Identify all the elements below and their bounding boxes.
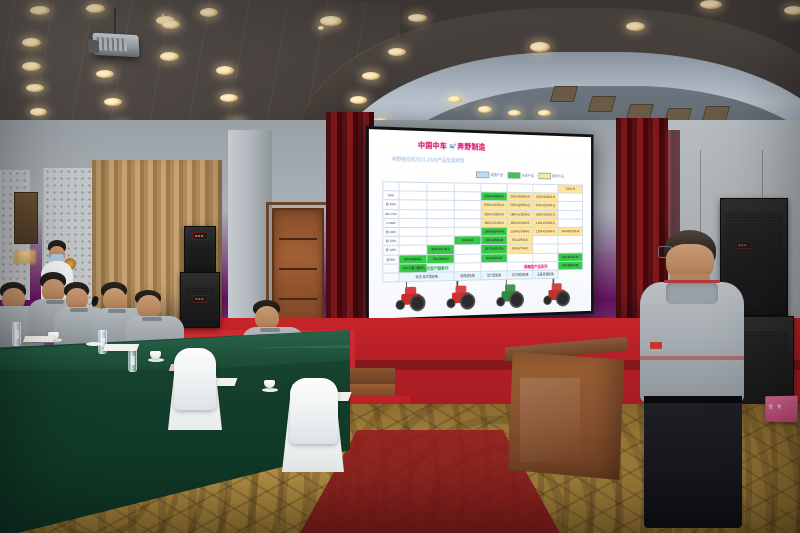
standing-presenter	[640, 230, 750, 530]
tractor-image-row	[384, 271, 580, 313]
podium-body	[508, 352, 624, 480]
banquet-chair[interactable]	[174, 348, 216, 410]
roadmap-cell: 704-2/804-2	[427, 254, 454, 263]
door-panel-line	[279, 238, 317, 240]
roadmap-cell	[427, 182, 454, 191]
ceiling-downlight	[162, 20, 180, 29]
roadmap-cell	[399, 191, 427, 200]
ceiling-downlight	[220, 94, 238, 102]
roadmap-cell	[558, 210, 583, 219]
roadmap-cell	[454, 254, 481, 263]
slide-logo-part2: 奔野制造	[457, 142, 485, 152]
roadmap-row-label: 的 100h	[383, 246, 399, 255]
roadmap-cell	[454, 210, 481, 219]
ceiling-downlight	[30, 6, 50, 15]
roadmap-cell: 1804-G/1604-G	[481, 210, 507, 219]
polo-collar	[46, 300, 64, 304]
roadmap-cell: 2304-N/2604-N	[507, 192, 533, 201]
roadmap-cell	[454, 218, 481, 227]
ceiling-downlight	[448, 96, 462, 103]
roadmap-cell: 804-904	[454, 236, 481, 245]
tractor-rear-wheel	[409, 294, 425, 311]
ceiling-downlight	[362, 72, 380, 80]
roadmap-cell: 404-B/504-B	[481, 253, 507, 262]
slide-logo: 中国中车 ≡∕ 奔野制造	[418, 140, 485, 153]
roadmap-cell: 1204-E/1404-E	[533, 219, 558, 228]
roadmap-cell	[399, 209, 427, 218]
roadmap-cell	[427, 227, 454, 236]
ceiling-downlight	[320, 16, 342, 26]
roadmap-cell: 2004-m/2204-m	[481, 201, 507, 210]
ceiling-downlight	[408, 14, 427, 22]
ceiling-downlight	[96, 70, 114, 78]
speaker-cabinet-left-top	[184, 226, 216, 274]
shirt-logo-badge	[650, 342, 662, 349]
tractor-front-wheel	[395, 300, 404, 310]
roadmap-cell: 804-E/804-E	[399, 254, 427, 263]
collar-trim-stripe	[664, 280, 720, 283]
ceiling-downlight	[530, 42, 550, 52]
ceiling-downlight	[478, 106, 492, 113]
wall-sconce-light	[14, 250, 36, 264]
roadmap-cell: 1204-E/1404-E	[533, 227, 558, 236]
ceiling-downlight	[162, 14, 164, 16]
roadmap-cell: 1004-B/904-B	[481, 236, 507, 245]
ceiling-downlight	[626, 22, 645, 31]
roadmap-cell	[454, 201, 481, 210]
roadmap-cell	[399, 236, 427, 245]
roadmap-cell: 604-E/704-E	[507, 244, 533, 253]
roadmap-cell: 28-704/28-804	[481, 245, 507, 254]
roadmap-cell	[533, 236, 558, 245]
roadmap-cell: 904-M/1004-M	[558, 227, 583, 236]
presenter-trousers	[644, 396, 742, 528]
ceiling-downlight	[104, 98, 122, 106]
roadmap-cell	[427, 209, 454, 218]
ceiling-vent	[702, 106, 730, 121]
roadmap-cell	[533, 184, 558, 193]
banquet-chair[interactable]	[290, 378, 338, 444]
projector-lens	[88, 39, 99, 53]
legend-item-mature: 成熟产品	[476, 171, 503, 178]
roadmap-row-label: 的 80h	[383, 255, 399, 264]
ceiling-downlight	[508, 110, 521, 116]
legend-chip-developing	[507, 172, 520, 179]
roadmap-cell	[427, 218, 454, 227]
roadmap-cell: 2004-Q/2204-Q	[533, 201, 558, 210]
document-paper[interactable]	[23, 336, 55, 342]
roadmap-cell	[399, 218, 427, 227]
roadmap-cell	[427, 236, 454, 245]
roadmap-cell: 1004 M	[558, 185, 583, 194]
roadmap-cell	[399, 245, 427, 254]
ceiling-downlight	[784, 6, 800, 15]
tractor-front-wheel	[447, 298, 456, 308]
speaker-grille	[189, 241, 211, 267]
roadmap-cell	[454, 183, 481, 192]
roadmap-cell	[558, 193, 583, 202]
speaker-grille	[185, 287, 215, 321]
sleeve-trim-stripe	[640, 356, 744, 360]
speaker-cabinet-left-bottom	[180, 272, 220, 328]
roadmap-cell	[399, 227, 427, 236]
ceiling-downlight	[318, 26, 324, 30]
roadmap-cell	[558, 219, 583, 228]
ceiling-downlight	[30, 108, 47, 116]
document-paper[interactable]	[103, 344, 140, 351]
roadmap-cell	[427, 191, 454, 200]
roadmap-cell: 1304-B/1004-B	[481, 227, 507, 236]
ceiling-vent	[626, 104, 654, 119]
legend-label-mature: 成熟产品	[491, 173, 504, 177]
door-panel-line	[279, 268, 317, 270]
wall-plaque	[14, 192, 38, 244]
slide-logo-mark: ≡∕	[449, 142, 455, 151]
roadmap-cell	[454, 192, 481, 201]
roadmap-row-label: 260h	[383, 191, 399, 200]
roadmap-cell	[558, 202, 583, 211]
ceiling-vent	[588, 96, 617, 112]
conference-room-photo: 中国中车 ≡∕ 奔野制造 奔野拖拉机2021-2026产品型谱规划 成熟产品 在…	[0, 0, 800, 533]
roadmap-cell: 2304-E/2604-E	[481, 192, 507, 201]
ceiling-downlight	[538, 110, 551, 116]
roadmap-cell	[558, 236, 583, 245]
cup-saucer	[86, 342, 102, 346]
legend-item-developing: 在研产品	[507, 172, 533, 179]
roadmap-cell	[558, 244, 583, 253]
tractor-rear-wheel	[556, 290, 570, 306]
roadmap-cell: 2004-Q/2004-Q	[507, 201, 533, 210]
tractor-photo-4	[541, 278, 573, 307]
tractor-photo-1	[393, 282, 428, 312]
ceiling-downlight	[216, 66, 234, 75]
roadmap-cell	[507, 184, 533, 193]
polo-collar	[142, 317, 162, 321]
tractor-rear-wheel	[460, 293, 475, 310]
water-bottle[interactable]	[128, 348, 137, 372]
roadmap-cell	[399, 200, 427, 209]
ceiling-downlight	[22, 62, 41, 71]
legend-label-planned: 规划产品	[552, 174, 564, 178]
roadmap-cell: 1804-G/1604-G	[507, 210, 533, 219]
roadmap-cell: 904-E/904-E	[507, 236, 533, 245]
roadmap-cell	[533, 244, 558, 253]
polo-collar	[108, 309, 126, 313]
slide-logo-part1: 中国中车	[418, 141, 447, 151]
polo-collar	[260, 328, 280, 332]
polo-collar	[70, 308, 88, 312]
sign-card-text: 签 到	[769, 404, 783, 410]
presentation-slide: 中国中车 ≡∕ 奔野制造 奔野拖拉机2021-2026产品型谱规划 成熟产品 在…	[369, 129, 591, 319]
water-bottle[interactable]	[12, 322, 21, 346]
roadmap-cell	[481, 183, 507, 192]
led-presentation-screen: 中国中车 ≡∕ 奔野制造 奔野拖拉机2021-2026产品型谱规划 成熟产品 在…	[366, 126, 594, 322]
legend-chip-planned	[538, 173, 551, 180]
roadmap-row: 180 170h1804-G/1604-G1804-G/1604-G1804-G…	[383, 209, 583, 219]
slide-legend: 成熟产品 在研产品 规划产品	[476, 171, 564, 179]
ceiling-downlight	[388, 48, 406, 56]
cup-saucer	[262, 388, 278, 392]
roadmap-cell	[427, 200, 454, 209]
roadmap-row-label	[383, 182, 399, 191]
tractor-photo-2	[444, 280, 478, 310]
ceiling-vent	[550, 86, 579, 102]
ceiling-downlight	[22, 38, 41, 47]
tractor-rear-wheel	[509, 292, 524, 308]
roadmap-row-label: 180 170h	[383, 209, 399, 218]
tractor-photo-3	[493, 279, 526, 308]
presenter-collar	[666, 282, 718, 304]
roadmap-row: ol 150h1504-G/1404-E1504-E/1404-E1204-E/…	[383, 218, 583, 227]
ceiling-downlight	[350, 96, 367, 104]
ceiling-downlight	[26, 84, 44, 92]
roadmap-cell: 1804-G/1604-G	[533, 210, 558, 219]
table-tent-sign: 签 到	[765, 396, 797, 423]
roadmap-row-label: 的 220h	[383, 200, 399, 209]
tractor-front-wheel	[496, 297, 505, 307]
legend-chip-mature	[476, 171, 489, 178]
ceiling-downlight	[160, 52, 179, 61]
podium-highlight	[520, 378, 580, 462]
door-panel-line	[279, 298, 317, 300]
roadmap-cell	[399, 182, 427, 191]
roadmap-cell: 1204-E/1404-E	[507, 227, 533, 236]
speaking-podium[interactable]	[505, 342, 627, 482]
ceiling-projector	[92, 33, 139, 58]
roadmap-cell	[507, 253, 533, 262]
roadmap-row-label: ol 150h	[383, 218, 399, 227]
ceiling-downlight	[700, 0, 722, 9]
screen-surface: 中国中车 ≡∕ 奔野制造 奔野拖拉机2021-2026产品型谱规划 成熟产品 在…	[369, 129, 591, 319]
ceiling-downlight	[200, 8, 218, 17]
ceiling-downlight	[86, 4, 105, 13]
speaker-brand-badge	[192, 232, 208, 240]
slide-subtitle: 奔野拖拉机2021-2026产品型谱规划	[392, 156, 465, 165]
tractor-front-wheel	[544, 296, 552, 306]
roadmap-row-label: 的 120h	[383, 236, 399, 245]
legend-label-developing: 在研产品	[522, 174, 534, 178]
roadmap-cell: 804/704-TB-2	[427, 245, 454, 254]
roadmap-cell: 1504-E/1404-E	[507, 219, 533, 228]
roadmap-row-label: 的 130h	[383, 227, 399, 236]
roadmap-cell	[454, 227, 481, 236]
presenter-belt	[644, 396, 742, 403]
roadmap-cell: 1504-G/1404-E	[481, 219, 507, 228]
legend-item-planned: 规划产品	[538, 173, 564, 180]
roadmap-cell	[454, 245, 481, 254]
roadmap-cell: 2304-N/2604-N	[533, 193, 558, 202]
side-door[interactable]	[272, 208, 324, 330]
